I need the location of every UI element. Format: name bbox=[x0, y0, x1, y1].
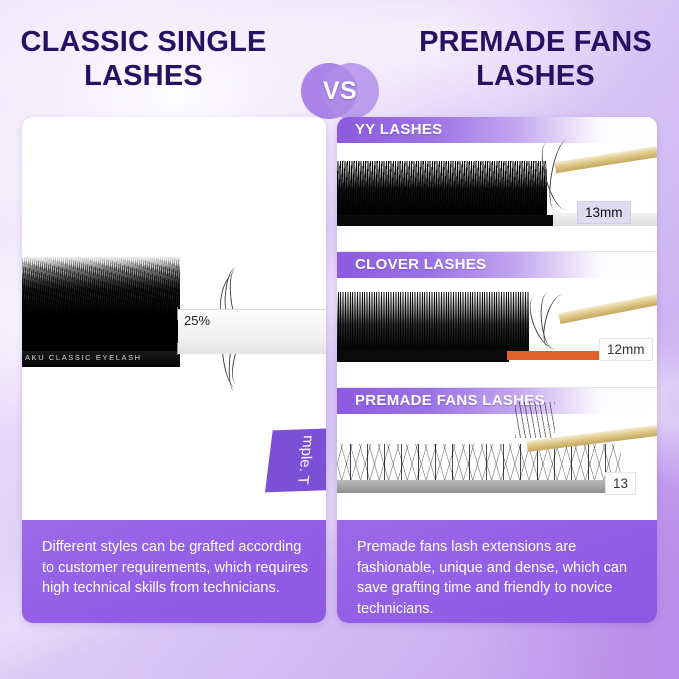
yy-fan-fibers bbox=[337, 161, 547, 219]
yy-lashes-artwork: 13mm bbox=[337, 117, 657, 251]
yy-strip-base bbox=[337, 215, 559, 226]
measure-label-yy: 13mm bbox=[577, 201, 631, 224]
page-title-right: PREMADE FANS LASHES bbox=[398, 26, 673, 93]
classic-lashes-caption: Different styles can be grafted accordin… bbox=[22, 520, 326, 623]
percent-label: 25% bbox=[184, 313, 210, 328]
premade-fans-sections: YY LASHES 13mm CLOVER LASHES bbox=[337, 117, 657, 520]
tweezer-icon bbox=[558, 291, 657, 331]
section-premade-fans: PREMADE FANS LASHES 13 bbox=[337, 387, 657, 520]
classic-lashes-artwork: AKU CLASSIC EYELASH 25% mple. T bbox=[22, 117, 326, 520]
strip-brand-label: AKU CLASSIC EYELASH bbox=[25, 353, 175, 362]
measure-label-clover: 12mm bbox=[599, 338, 653, 361]
vs-badge: VS bbox=[301, 63, 379, 119]
clover-lashes-artwork: 12mm bbox=[337, 252, 657, 388]
premade-fans-card: YY LASHES 13mm CLOVER LASHES bbox=[337, 117, 657, 623]
clover-fan-fibers bbox=[337, 292, 529, 354]
classic-single-lashes-card: AKU CLASSIC EYELASH 25% mple. T Differen… bbox=[22, 117, 326, 623]
clover-strip-base bbox=[337, 350, 509, 362]
classic-lashes-image: AKU CLASSIC EYELASH 25% mple. T bbox=[22, 117, 326, 520]
promo-tag: mple. T bbox=[265, 428, 326, 493]
header: CLASSIC SINGLE LASHES VS PREMADE FANS LA… bbox=[0, 26, 679, 110]
clover-strip-orange bbox=[507, 351, 599, 360]
measure-tick bbox=[177, 307, 178, 320]
premade-strip-base bbox=[337, 480, 633, 493]
section-clover-lashes: CLOVER LASHES 12mm bbox=[337, 251, 657, 388]
premade-fans-artwork: 13 bbox=[337, 388, 657, 520]
section-yy-lashes: YY LASHES 13mm bbox=[337, 117, 657, 251]
held-fan bbox=[515, 402, 555, 438]
measure-tick bbox=[177, 343, 178, 355]
page-title-left: CLASSIC SINGLE LASHES bbox=[6, 26, 281, 93]
tweezer-jaw bbox=[558, 291, 657, 324]
promo-tag-text: mple. T bbox=[294, 435, 317, 485]
premade-fans-caption: Premade fans lash extensions are fashion… bbox=[337, 520, 657, 623]
vs-label: VS bbox=[301, 63, 379, 119]
lash-fibers bbox=[22, 257, 180, 353]
lash-strip: AKU CLASSIC EYELASH bbox=[22, 257, 180, 367]
measure-label-premade: 13 bbox=[605, 472, 636, 495]
